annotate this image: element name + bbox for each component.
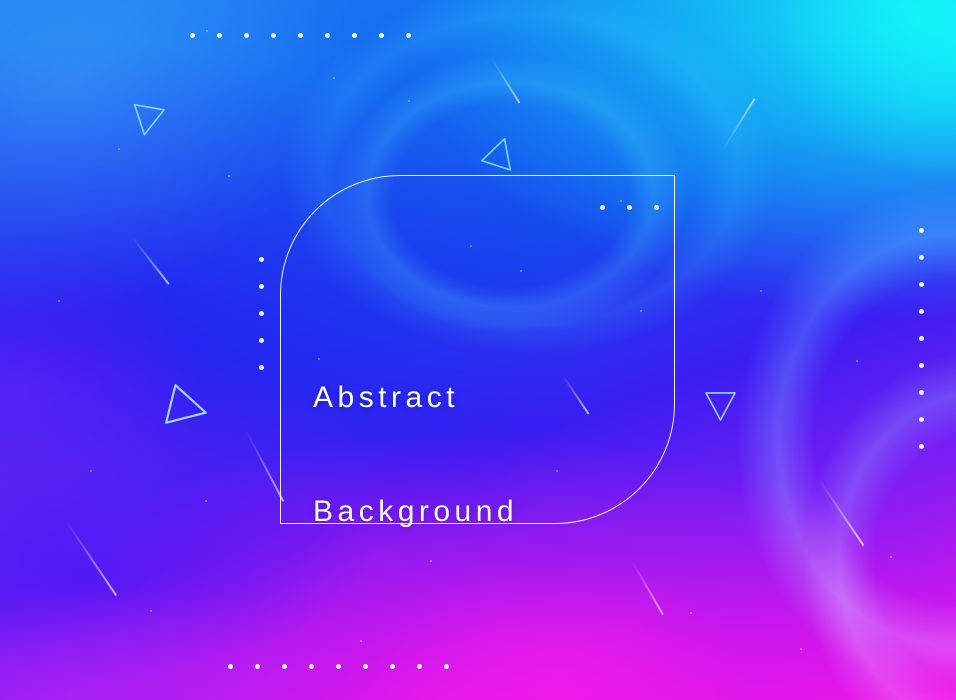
streak-bottom-right (819, 480, 864, 546)
pattern-dot (190, 33, 195, 38)
wave-cyan-corner (700, 0, 956, 250)
pattern-dot (309, 664, 314, 669)
pattern-dot (244, 33, 249, 38)
speckle-dot (205, 500, 207, 502)
streak-left-upper (131, 236, 170, 285)
abstract-background-canvas: Abstract Background (0, 0, 956, 700)
streak-bottom-left (65, 520, 117, 596)
pattern-dot (282, 664, 287, 669)
page-title-line-1: Abstract (313, 379, 518, 417)
triangle-right-down-outline (704, 389, 737, 422)
pattern-dot (217, 33, 222, 38)
speckle-dot (118, 148, 120, 150)
pattern-dot (259, 365, 264, 370)
speckle-dot (800, 648, 802, 650)
streak-bottom-mid (631, 561, 664, 616)
pattern-dot (259, 311, 264, 316)
speckle-dot (360, 640, 362, 642)
pattern-dot (228, 664, 233, 669)
pattern-dot (444, 664, 449, 669)
pattern-dot (336, 664, 341, 669)
speckle-dot (150, 610, 152, 612)
speckle-dot (856, 360, 858, 362)
page-title-line-2: Background (313, 493, 518, 531)
wave-right-curve-outer (690, 130, 956, 700)
speckle-dot (890, 556, 892, 558)
triangle-left-outline (127, 100, 166, 139)
pattern-dot (919, 390, 924, 395)
pattern-dot (259, 338, 264, 343)
speckle-dot (690, 612, 692, 614)
pattern-dot (255, 664, 260, 669)
pattern-dot (919, 336, 924, 341)
streak-top-right (721, 98, 756, 152)
streak-frame-lower-left (245, 431, 284, 503)
pattern-dot (919, 417, 924, 422)
streak-top-cyan (491, 58, 520, 103)
pattern-dot (919, 255, 924, 260)
wave-left-purple-blob (0, 180, 270, 600)
page-title: Abstract Background (313, 303, 518, 607)
triangle-top-center-outline (479, 132, 522, 175)
pattern-dot (919, 228, 924, 233)
pattern-dot (379, 33, 384, 38)
speckle-dot (333, 77, 335, 79)
pattern-dot (259, 257, 264, 262)
speckle-dot (760, 290, 762, 292)
pattern-dot (919, 444, 924, 449)
pattern-dot (325, 33, 330, 38)
pattern-dot (352, 33, 357, 38)
pattern-dot (298, 33, 303, 38)
pattern-dot (406, 33, 411, 38)
pattern-dot (390, 664, 395, 669)
speckle-dot (90, 470, 92, 472)
pattern-dot (919, 363, 924, 368)
speckle-dot (228, 175, 230, 177)
pattern-dot (919, 282, 924, 287)
speckle-dot (206, 30, 208, 32)
pattern-dot (919, 309, 924, 314)
pattern-dot (259, 284, 264, 289)
speckle-dot (58, 300, 60, 302)
speckle-dot (408, 100, 410, 102)
wave-right-curve-inner (760, 300, 956, 700)
triangle-mid-left-outline (160, 381, 213, 434)
pattern-dot (417, 664, 422, 669)
pattern-dot (363, 664, 368, 669)
pattern-dot (271, 33, 276, 38)
